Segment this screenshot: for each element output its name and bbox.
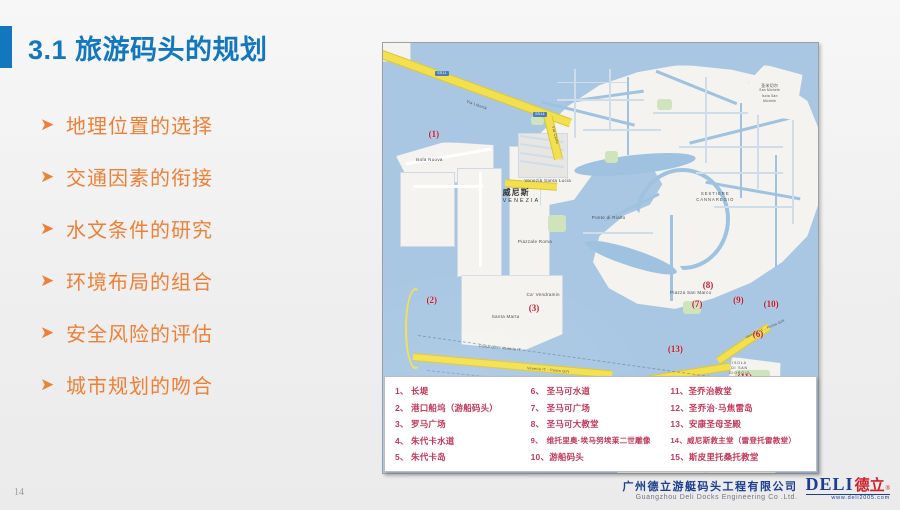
label-rialto: Ponte di Rialto (592, 215, 626, 220)
legend-item: 8、圣马可大教堂 (531, 416, 671, 433)
company-website: www.deli2005.com (806, 494, 890, 501)
ferry-route-main (413, 353, 613, 378)
legend-item-label: 朱代卡岛 (411, 452, 446, 462)
road-shield-ss14: SS14 (533, 112, 547, 117)
page-number: 14 (14, 487, 24, 498)
legend-item-label: 安康圣母圣殿 (689, 419, 741, 429)
legend-item-number: 13、 (670, 416, 689, 433)
list-item-label: 城市规划的吻合 (66, 370, 213, 399)
map-legend: 1、长堤 2、港口船坞（游船码头） 3、罗马广场 4、朱代卡水道 5、朱代卡岛 … (384, 376, 817, 472)
deli-logo-line: DELI 德立 ® (806, 475, 890, 493)
map-marker-7[interactable]: (7) (692, 299, 703, 309)
legend-item-number: 5、 (395, 449, 411, 466)
chevron-right-icon: ➤ (40, 376, 66, 393)
legend-item: 15、斯皮里托桑托教堂 (670, 449, 806, 466)
legend-item: 5、朱代卡岛 (395, 449, 531, 466)
land-tronchetto (400, 172, 454, 247)
legend-item: 13、安康圣母圣殿 (670, 416, 806, 433)
legend-item: 2、港口船坞（游船码头） (395, 400, 531, 417)
urban-block (696, 172, 783, 174)
chevron-right-icon: ➤ (40, 324, 66, 341)
title-accent-bar (0, 26, 12, 68)
list-item-label: 地理位置的选择 (66, 110, 213, 139)
map-marker-13[interactable]: (13) (668, 344, 683, 354)
port-road (479, 172, 482, 267)
legend-column-3: 11、圣乔治教堂 12、圣乔治·马焦雷岛 13、安康圣母圣殿 14、威尼斯救主堂… (670, 383, 806, 471)
legend-item: 14、威尼斯救主堂（雷登托雷教堂） (670, 433, 806, 450)
urban-block (557, 82, 627, 84)
map-marker-1[interactable]: (1) (429, 129, 440, 139)
urban-block (574, 69, 576, 138)
list-item[interactable]: ➤ 水文条件的研究 (40, 202, 340, 254)
legend-item-label: 圣乔治教堂 (688, 386, 732, 396)
legend-item-label: 威尼斯救主堂（雷登托雷教堂） (687, 436, 796, 445)
urban-block (609, 69, 611, 129)
legend-item-label: 长堤 (411, 386, 428, 396)
map-marker-9[interactable]: (9) (733, 295, 744, 305)
park-giardini (548, 215, 565, 232)
slide-root: 3.1 旅游码头的规划 ➤ 地理位置的选择 ➤ 交通因素的衔接 ➤ 水文条件的研… (0, 0, 900, 510)
legend-item-label: 游船码头 (549, 452, 584, 462)
legend-item-label: 圣马可水道 (547, 386, 591, 396)
small-canal (670, 215, 673, 301)
legend-item-number: 6、 (531, 383, 547, 400)
legend-item-label: 罗马广场 (411, 419, 446, 429)
legend-item-number: 15、 (670, 449, 689, 466)
legend-item-label: 维托里奥·埃马努埃莱二世雕像 (547, 436, 651, 445)
registered-trademark-icon: ® (886, 486, 890, 492)
list-item[interactable]: ➤ 地理位置的选择 (40, 98, 340, 150)
legend-item-label: 斯皮里托桑托教堂 (689, 452, 759, 462)
urban-block (653, 112, 749, 114)
legend-item-label: 朱代卡水道 (411, 436, 455, 446)
legend-item-number: 3、 (395, 416, 411, 433)
label-san-marco: Piazza San Marco (670, 290, 711, 295)
urban-block (557, 99, 644, 101)
company-name-en: Guangzhou Deli Docks Engineering Co .Ltd… (623, 494, 798, 502)
legend-item-number: 12、 (670, 400, 689, 417)
map-marker-10[interactable]: (10) (764, 299, 779, 309)
legend-item: 7、圣马可广场 (531, 400, 671, 417)
legend-item: 11、圣乔治教堂 (670, 383, 806, 400)
label-tronchetto: Isola Nuova (416, 157, 443, 162)
chevron-right-icon: ➤ (40, 272, 66, 289)
legend-item-number: 4、 (395, 433, 411, 450)
bullet-list: ➤ 地理位置的选择 ➤ 交通因素的衔接 ➤ 水文条件的研究 ➤ 环境布局的组合 … (40, 98, 340, 410)
map-marker-3[interactable]: (3) (529, 303, 540, 313)
ferry-route-label: Venetia IT - Ponta Gift (745, 318, 785, 339)
urban-block (792, 120, 794, 223)
legend-item-number: 9、 (531, 433, 547, 450)
legend-item: 1、长堤 (395, 383, 531, 400)
road-shield-ss11: SS11 (435, 71, 448, 76)
map-marker-6[interactable]: (6) (753, 329, 764, 339)
legend-item-number: 10、 (531, 449, 550, 466)
legend-item-label: 圣马可广场 (547, 403, 591, 413)
legend-item: 3、罗马广场 (395, 416, 531, 433)
list-item-label: 安全风险的评估 (66, 318, 213, 347)
urban-block (705, 77, 707, 163)
small-canal (627, 77, 630, 154)
label-piazzale-roma: Piazzale Roma (518, 239, 552, 244)
legend-item: 10、游船码头 (531, 449, 671, 466)
list-item[interactable]: ➤ 交通因素的衔接 (40, 150, 340, 202)
legend-item-number: 11、 (670, 383, 688, 400)
list-item[interactable]: ➤ 城市规划的吻合 (40, 358, 340, 410)
city-label: 威尼斯 VENEZIA (503, 187, 541, 204)
map-marker-8[interactable]: (8) (703, 280, 714, 290)
label-santa-marta: Santa Marta (492, 314, 520, 319)
map-marker-2[interactable]: (2) (427, 295, 438, 305)
legend-item-number: 1、 (395, 383, 411, 400)
label-ca-vendramin: Ca' Vendramin (527, 292, 560, 297)
company-branding: 广州德立游艇码头工程有限公司 Guangzhou Deli Docks Engi… (623, 475, 890, 502)
legend-item-number: 7、 (531, 400, 547, 417)
chevron-right-icon: ➤ (40, 116, 66, 133)
park-area (657, 99, 672, 110)
page-title: 3.1 旅游码头的规划 (28, 28, 268, 67)
legend-item-number: 8、 (531, 416, 547, 433)
district-label-cannaregio: SESTIERECANNAREGIO (696, 191, 734, 203)
legend-item-label: 圣马可大教堂 (547, 419, 599, 429)
legend-column-1: 1、长堤 2、港口船坞（游船码头） 3、罗马广场 4、朱代卡水道 5、朱代卡岛 (395, 383, 531, 471)
company-name-block: 广州德立游艇码头工程有限公司 Guangzhou Deli Docks Engi… (623, 481, 798, 502)
list-item-label: 交通因素的衔接 (66, 162, 213, 191)
legend-column-2: 6、圣马可水道 7、圣马可广场 8、圣马可大教堂 9、维托里奥·埃马努埃莱二世雕… (531, 383, 671, 471)
urban-block (583, 129, 661, 131)
chevron-right-icon: ➤ (40, 168, 66, 185)
island-label-san-michele: 圣米切尔 San Michele Isola San Michele (759, 83, 780, 103)
deli-logo-text: DELI (806, 475, 854, 493)
land-marittima (461, 275, 563, 350)
legend-item-number: 14、 (670, 433, 687, 450)
list-item-label: 环境布局的组合 (66, 266, 213, 295)
company-name-cn: 广州德立游艇码头工程有限公司 (623, 481, 798, 494)
deli-logo: DELI 德立 ® www.deli2005.com (806, 475, 890, 502)
legend-item: 4、朱代卡水道 (395, 433, 531, 450)
chevron-right-icon: ➤ (40, 220, 66, 237)
park-area (605, 151, 618, 164)
urban-block (679, 146, 783, 148)
list-item[interactable]: ➤ 环境布局的组合 (40, 254, 340, 306)
legend-item-number: 2、 (395, 400, 411, 417)
label-station: Venezia Santa Lucia (524, 178, 571, 183)
road-name-liberta: Via Libertà (466, 100, 487, 111)
deli-logo-cn: 德立 (855, 478, 885, 493)
small-canal (740, 103, 743, 198)
legend-item: 12、圣乔治·马焦雷岛 (670, 400, 806, 417)
list-item-label: 水文条件的研究 (66, 214, 213, 243)
legend-item-label: 港口船坞（游船码头） (411, 403, 498, 413)
legend-item: 6、圣马可水道 (531, 383, 671, 400)
port-road (413, 185, 483, 188)
urban-block (583, 232, 653, 234)
legend-item: 9、维托里奥·埃马努埃莱二世雕像 (531, 433, 671, 450)
list-item[interactable]: ➤ 安全风险的评估 (40, 306, 340, 358)
urban-block (714, 206, 792, 208)
legend-item-label: 圣乔治·马焦雷岛 (689, 403, 753, 413)
